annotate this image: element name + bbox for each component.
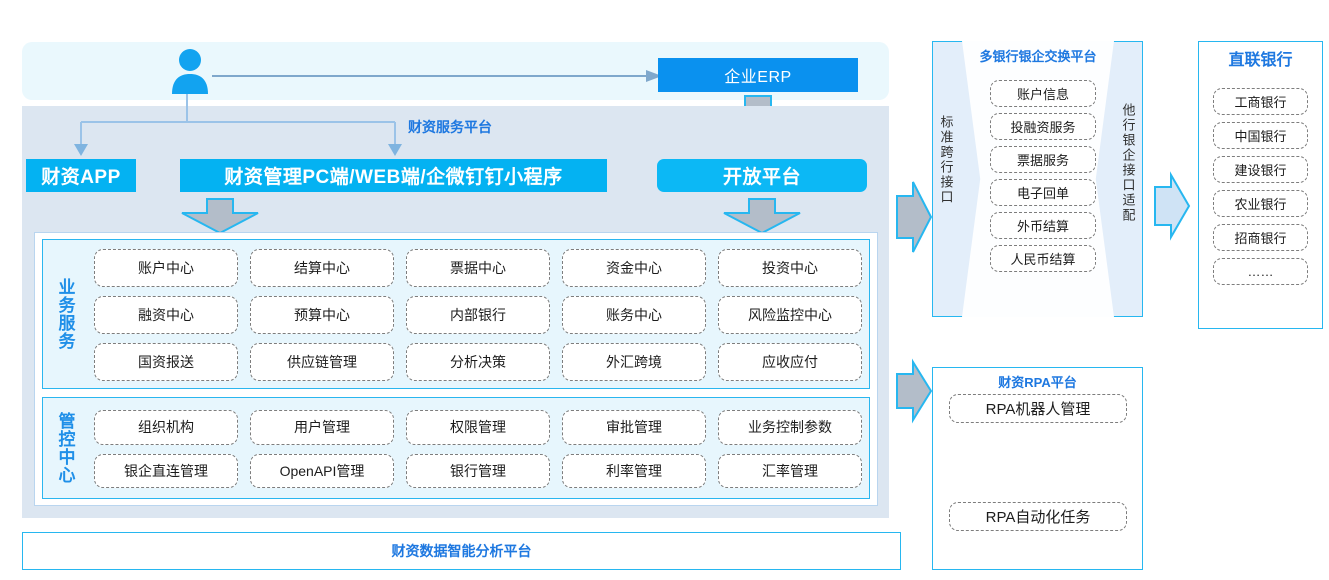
business-service-box[interactable]: 国资报送	[94, 343, 238, 381]
direct-bank-box[interactable]: 建设银行	[1213, 156, 1308, 183]
multibank-service-box[interactable]: 投融资服务	[990, 113, 1096, 140]
multibank-service-box[interactable]: 外币结算	[990, 212, 1096, 239]
business-service-box[interactable]: 应收应付	[718, 343, 862, 381]
multibank-service-box[interactable]: 票据服务	[990, 146, 1096, 173]
direct-bank-box[interactable]: 招商银行	[1213, 224, 1308, 251]
enterprise-erp-box[interactable]: 企业ERP	[658, 58, 858, 92]
multibank-service-box[interactable]: 电子回单	[990, 179, 1096, 206]
control-center-box[interactable]: 组织机构	[94, 410, 238, 445]
pc-down-arrow	[182, 199, 258, 233]
architecture-diagram: 企业ERP 财资服务平台 财资APP 财资管理PC端/WEB端/企微钉钉小程序 …	[0, 0, 1329, 580]
business-service-box[interactable]: 融资中心	[94, 296, 238, 334]
open-platform-button[interactable]: 开放平台	[657, 159, 867, 192]
platform-to-rpa-arrow	[897, 362, 931, 420]
multibank-service-box[interactable]: 人民币结算	[990, 245, 1096, 272]
control-center-box[interactable]: 业务控制参数	[718, 410, 862, 445]
control-center-grid: 组织机构用户管理权限管理审批管理业务控制参数银企直连管理OpenAPI管理银行管…	[94, 410, 862, 488]
direct-bank-list: 工商银行中国银行建设银行农业银行招商银行……	[1213, 88, 1308, 292]
direct-bank-box[interactable]: 工商银行	[1213, 88, 1308, 115]
business-service-box[interactable]: 分析决策	[406, 343, 550, 381]
direct-bank-box[interactable]: 中国银行	[1213, 122, 1308, 149]
data-analysis-platform-bar: 财资数据智能分析平台	[22, 532, 901, 570]
business-services-label: 业务服务	[52, 243, 78, 385]
user-icon	[170, 48, 210, 94]
business-service-box[interactable]: 账务中心	[562, 296, 706, 334]
rpa-platform-title: 财资RPA平台	[932, 372, 1143, 390]
business-service-box[interactable]: 资金中心	[562, 249, 706, 287]
control-center-box[interactable]: 审批管理	[562, 410, 706, 445]
business-service-box[interactable]: 供应链管理	[250, 343, 394, 381]
user-branch-connector	[50, 94, 470, 156]
business-service-box[interactable]: 投资中心	[718, 249, 862, 287]
business-service-box[interactable]: 内部银行	[406, 296, 550, 334]
direct-bank-title: 直联银行	[1198, 48, 1323, 68]
control-center-box[interactable]: 银企直连管理	[94, 454, 238, 489]
direct-bank-box[interactable]: 农业银行	[1213, 190, 1308, 217]
control-center-box[interactable]: 汇率管理	[718, 454, 862, 489]
control-center-box[interactable]: 银行管理	[406, 454, 550, 489]
direct-bank-box[interactable]: ……	[1213, 258, 1308, 285]
multibank-service-list: 账户信息投融资服务票据服务电子回单外币结算人民币结算	[990, 80, 1096, 278]
control-center-box[interactable]: 用户管理	[250, 410, 394, 445]
business-services-grid: 账户中心结算中心票据中心资金中心投资中心融资中心预算中心内部银行账务中心风险监控…	[94, 249, 862, 381]
control-center-box[interactable]: 权限管理	[406, 410, 550, 445]
business-service-box[interactable]: 预算中心	[250, 296, 394, 334]
business-service-box[interactable]: 账户中心	[94, 249, 238, 287]
control-center-box[interactable]: OpenAPI管理	[250, 454, 394, 489]
treasury-pc-web-button[interactable]: 财资管理PC端/WEB端/企微钉钉小程序	[180, 159, 607, 192]
standard-interface-label: 标准跨行接口	[936, 95, 956, 225]
control-center-box[interactable]: 利率管理	[562, 454, 706, 489]
multibank-to-directbank-arrow	[1155, 175, 1189, 237]
platform-to-multibank-arrow	[897, 182, 931, 252]
business-service-box[interactable]: 结算中心	[250, 249, 394, 287]
user-to-erp-arrow	[212, 70, 662, 82]
business-service-box[interactable]: 票据中心	[406, 249, 550, 287]
business-service-box[interactable]: 风险监控中心	[718, 296, 862, 334]
treasury-app-button[interactable]: 财资APP	[26, 159, 136, 192]
rpa-robot-management-box[interactable]: RPA机器人管理	[949, 394, 1127, 423]
other-bank-adapter-label: 他行银企接口适配	[1118, 98, 1138, 228]
multibank-title: 多银行银企交换平台	[962, 46, 1114, 64]
business-service-box[interactable]: 外汇跨境	[562, 343, 706, 381]
open-platform-down-arrow	[724, 199, 800, 233]
control-center-label: 管控中心	[52, 401, 78, 495]
multibank-service-box[interactable]: 账户信息	[990, 80, 1096, 107]
rpa-automation-task-box[interactable]: RPA自动化任务	[949, 502, 1127, 531]
